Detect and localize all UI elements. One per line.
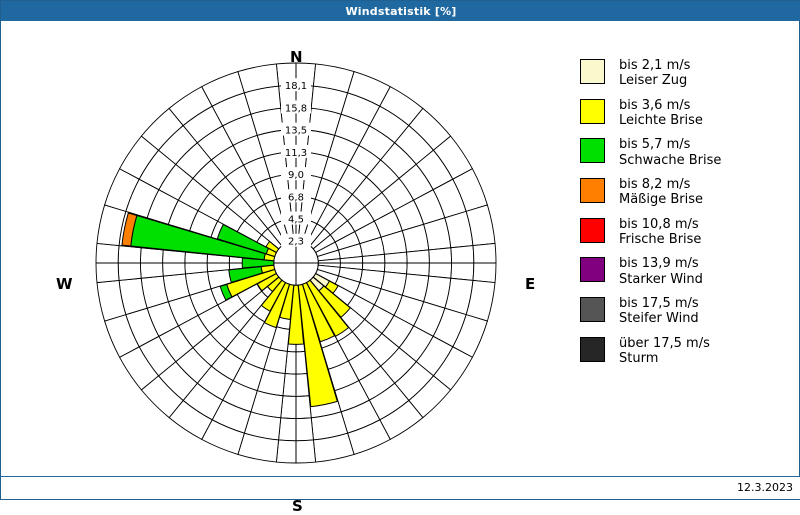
radial-tick-label: 6,8	[288, 192, 304, 203]
legend-speed-range: bis 2,1 m/s	[619, 58, 690, 73]
legend-speed-range: über 17,5 m/s	[619, 336, 710, 351]
legend-color-swatch	[580, 218, 605, 243]
legend-color-swatch	[580, 178, 605, 203]
legend-item: bis 2,1 m/sLeiser Zug	[580, 58, 795, 89]
legend-item: bis 8,2 m/sMäßige Brise	[580, 177, 795, 208]
legend-speed-range: bis 17,5 m/s	[619, 296, 699, 311]
chart-window: Windstatistik [%] 2,34,56,89,011,313,515…	[0, 0, 800, 500]
legend-item: bis 17,5 m/sSteifer Wind	[580, 296, 795, 327]
legend-speed-range: bis 10,8 m/s	[619, 217, 701, 232]
window-title-bar: Windstatistik [%]	[1, 1, 800, 21]
radial-tick-label: 4,5	[288, 215, 304, 226]
legend-beaufort-name: Starker Wind	[619, 272, 703, 287]
legend-text-block: bis 10,8 m/sFrische Brise	[619, 217, 701, 248]
legend-color-swatch	[580, 138, 605, 163]
radial-tick-label: 2,3	[288, 237, 304, 248]
legend-beaufort-name: Sturm	[619, 351, 710, 366]
legend-text-block: über 17,5 m/sSturm	[619, 336, 710, 367]
legend-color-swatch	[580, 59, 605, 84]
legend-speed-range: bis 13,9 m/s	[619, 256, 703, 271]
legend-speed-range: bis 5,7 m/s	[619, 137, 721, 152]
legend-text-block: bis 3,6 m/sLeichte Brise	[619, 98, 703, 129]
legend-beaufort-name: Schwache Brise	[619, 153, 721, 168]
radial-tick-label: 11,3	[285, 148, 307, 159]
legend-item: bis 10,8 m/sFrische Brise	[580, 217, 795, 248]
wind-rose-panel: 2,34,56,89,011,313,515,818,1 N E S W	[2, 22, 562, 478]
legend-beaufort-name: Leichte Brise	[619, 113, 703, 128]
legend-item: bis 5,7 m/sSchwache Brise	[580, 137, 795, 168]
compass-label-east: E	[525, 275, 535, 293]
legend: bis 2,1 m/sLeiser Zugbis 3,6 m/sLeichte …	[580, 58, 795, 375]
legend-text-block: bis 8,2 m/sMäßige Brise	[619, 177, 703, 208]
legend-speed-range: bis 8,2 m/s	[619, 177, 703, 192]
legend-color-swatch	[580, 99, 605, 124]
legend-color-swatch	[580, 337, 605, 362]
legend-beaufort-name: Frische Brise	[619, 232, 701, 247]
compass-label-north: N	[290, 48, 303, 66]
status-bar: 12.3.2023	[1, 476, 800, 499]
compass-label-west: W	[56, 275, 73, 293]
wind-rose-chart: 2,34,56,89,011,313,515,818,1	[2, 22, 562, 478]
radial-tick-label: 15,8	[285, 103, 307, 114]
legend-text-block: bis 13,9 m/sStarker Wind	[619, 256, 703, 287]
legend-text-block: bis 5,7 m/sSchwache Brise	[619, 137, 721, 168]
legend-beaufort-name: Steifer Wind	[619, 311, 699, 326]
page-title: Windstatistik [%]	[345, 5, 456, 18]
legend-item: über 17,5 m/sSturm	[580, 336, 795, 367]
legend-color-swatch	[580, 297, 605, 322]
legend-item: bis 3,6 m/sLeichte Brise	[580, 98, 795, 129]
chart-content: 2,34,56,89,011,313,515,818,1 N E S W bis…	[2, 22, 798, 478]
date-label: 12.3.2023	[737, 481, 793, 494]
legend-beaufort-name: Leiser Zug	[619, 73, 690, 88]
legend-beaufort-name: Mäßige Brise	[619, 192, 703, 207]
radial-tick-label: 9,0	[288, 170, 304, 181]
legend-item: bis 13,9 m/sStarker Wind	[580, 256, 795, 287]
legend-text-block: bis 2,1 m/sLeiser Zug	[619, 58, 690, 89]
radial-tick-label: 18,1	[285, 81, 307, 92]
legend-color-swatch	[580, 257, 605, 282]
legend-text-block: bis 17,5 m/sSteifer Wind	[619, 296, 699, 327]
legend-speed-range: bis 3,6 m/s	[619, 98, 703, 113]
radial-tick-label: 13,5	[285, 126, 307, 137]
